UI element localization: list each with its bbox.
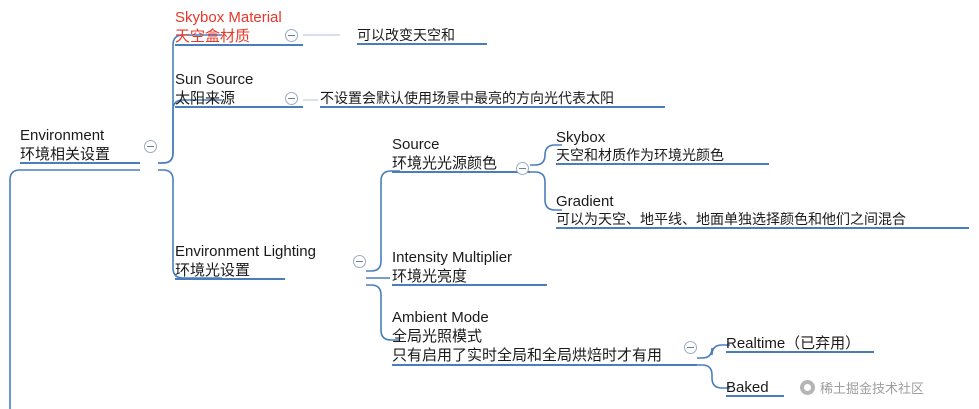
node-source-underline [392, 171, 530, 173]
node-skybox-material-line-0: Skybox Material [175, 8, 303, 27]
node-environment-lighting-line-0: Environment Lighting [175, 242, 365, 261]
node-sun-source-description[interactable]: 不设置会默认使用场景中最亮的方向光代表太阳 [320, 90, 665, 108]
node-skybox-material-description[interactable]: 可以改变天空和 [357, 27, 487, 45]
watermark-text: 稀土掘金技术社区 [820, 378, 924, 397]
node-gradient-line-0: Gradient [556, 192, 969, 211]
node-environment[interactable]: Environment 环境相关设置 [20, 126, 140, 164]
node-source-line-0: Source [392, 135, 530, 154]
node-environment-line-0: Environment [20, 126, 140, 145]
toggle-sun-source[interactable] [285, 92, 298, 105]
toggle-ambient-mode[interactable] [684, 341, 697, 354]
node-gradient-underline [556, 227, 969, 229]
node-intensity-multiplier[interactable]: Intensity Multiplier 环境光亮度 [392, 248, 547, 286]
node-ambient-mode-line-1: 全局光照模式 [392, 327, 697, 346]
node-environment-lighting-underline [175, 278, 285, 280]
node-realtime[interactable]: Realtime（已弃用） [726, 334, 874, 353]
node-sun-source-line-0: Sun Source [175, 70, 303, 89]
node-source[interactable]: Source 环境光光源颜色 [392, 135, 530, 173]
node-skybox-material[interactable]: Skybox Material 天空盒材质 [175, 8, 303, 46]
node-skybox-material-description-underline [357, 43, 487, 45]
node-intensity-multiplier-underline [392, 284, 547, 286]
node-skybox-material-underline [175, 44, 303, 46]
node-ambient-mode-underline [392, 364, 697, 366]
node-realtime-underline [726, 351, 874, 353]
node-skybox-underline [556, 163, 769, 165]
node-skybox[interactable]: Skybox 天空和材质作为环境光颜色 [556, 128, 769, 165]
toggle-source[interactable] [516, 162, 529, 175]
watermark: 稀土掘金技术社区 [800, 378, 924, 397]
juejin-logo-icon [800, 380, 815, 395]
node-sun-source-underline [175, 106, 303, 108]
node-environment-underline [20, 162, 140, 164]
node-ambient-mode[interactable]: Ambient Mode 全局光照模式 只有启用了实时全局和全局烘焙时才有用 [392, 308, 697, 366]
node-environment-lighting[interactable]: Environment Lighting 环境光设置 [175, 242, 365, 280]
node-ambient-mode-line-0: Ambient Mode [392, 308, 697, 327]
node-baked-underline [726, 395, 784, 397]
node-skybox-line-0: Skybox [556, 128, 769, 147]
toggle-environment-lighting[interactable] [353, 255, 366, 268]
toggle-environment[interactable] [144, 140, 157, 153]
node-gradient[interactable]: Gradient 可以为天空、地平线、地面单独选择颜色和他们之间混合 [556, 192, 969, 229]
node-sun-source[interactable]: Sun Source 太阳来源 [175, 70, 303, 108]
toggle-skybox-material[interactable] [285, 29, 298, 42]
node-baked[interactable]: Baked [726, 378, 784, 397]
node-intensity-multiplier-line-0: Intensity Multiplier [392, 248, 547, 267]
node-sun-source-description-underline [320, 106, 665, 108]
mindmap-canvas: Environment 环境相关设置 Skybox Material 天空盒材质… [0, 0, 979, 409]
